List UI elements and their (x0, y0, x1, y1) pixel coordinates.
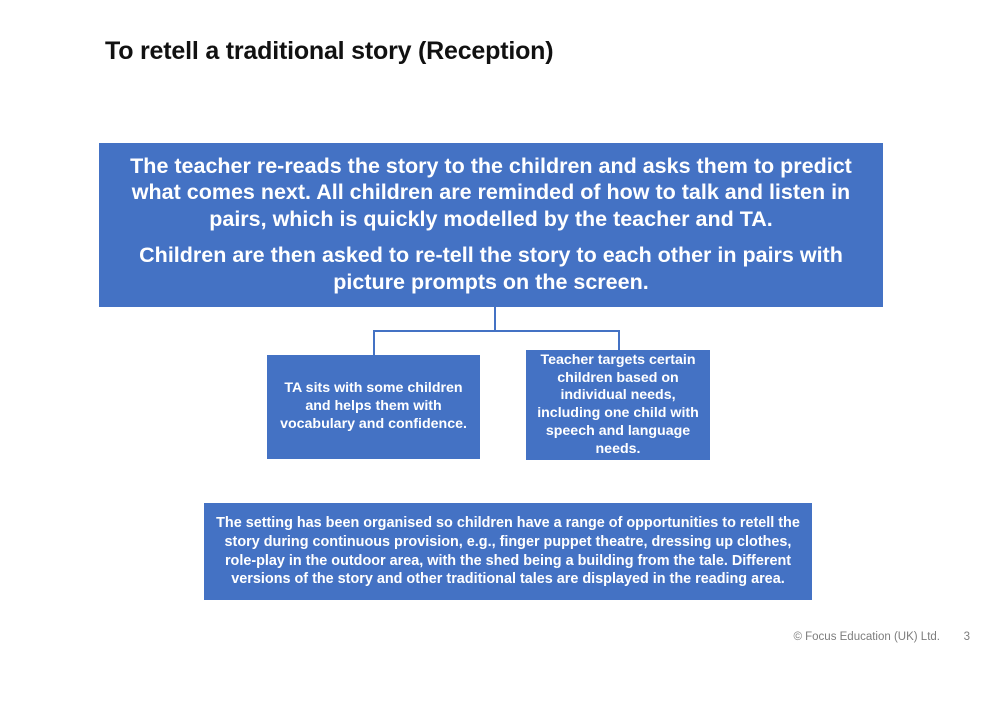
flow-box-ta-support-text: TA sits with some children and helps the… (273, 380, 474, 434)
flow-box-setting-provision: The setting has been organised so childr… (204, 503, 812, 600)
connector-stem-vertical (494, 307, 496, 332)
footer: © Focus Education (UK) Ltd. 3 (680, 631, 970, 643)
flow-box-setting-provision-text: The setting has been organised so childr… (213, 514, 803, 589)
copyright-notice: © Focus Education (UK) Ltd. (793, 631, 940, 643)
flow-box-main-paragraph-1: The teacher re-reads the story to the ch… (107, 153, 875, 232)
flow-box-teacher-targets: Teacher targets certain children based o… (526, 350, 710, 460)
connector-drop-left (373, 330, 375, 355)
connector-drop-right (618, 330, 620, 350)
flow-box-ta-support: TA sits with some children and helps the… (267, 355, 480, 459)
slide-canvas: To retell a traditional story (Reception… (0, 0, 1000, 703)
page-number: 3 (962, 631, 970, 643)
flow-box-main-paragraph-2: Children are then asked to re-tell the s… (107, 242, 875, 295)
page-title: To retell a traditional story (Reception… (105, 36, 905, 66)
flow-box-teacher-targets-text: Teacher targets certain children based o… (531, 352, 705, 459)
flow-box-main: The teacher re-reads the story to the ch… (99, 143, 883, 307)
connector-horizontal-bar (373, 330, 620, 332)
